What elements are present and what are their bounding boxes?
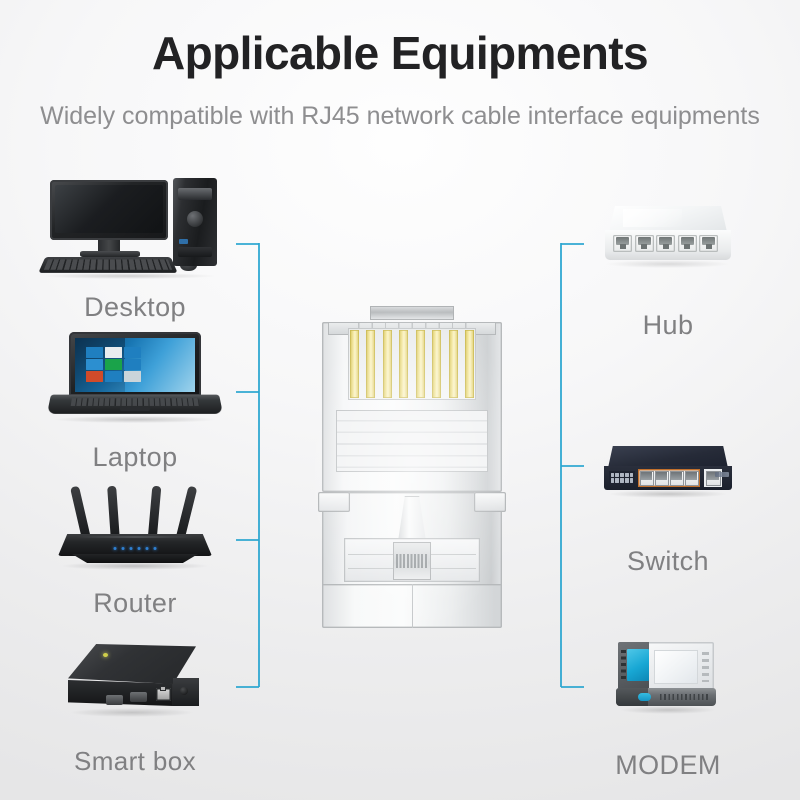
connector-gold-pins bbox=[350, 330, 474, 398]
connector-cable-stub bbox=[370, 306, 454, 320]
equipment-label-switch: Switch bbox=[553, 546, 783, 577]
equipment-item-modem[interactable]: MODEM bbox=[553, 636, 783, 781]
network-hub-icon bbox=[553, 196, 783, 306]
equipment-label-laptop: Laptop bbox=[20, 442, 250, 473]
connector-wing-right bbox=[474, 492, 506, 512]
equipment-item-laptop[interactable]: Laptop bbox=[20, 328, 250, 473]
infographic-canvas: Applicable Equipments Widely compatible … bbox=[0, 0, 800, 800]
equipment-label-hub: Hub bbox=[553, 310, 783, 341]
equipment-item-hub[interactable]: Hub bbox=[553, 196, 783, 341]
connector-wing-left bbox=[318, 492, 350, 512]
set-top-box-icon bbox=[20, 632, 250, 742]
page-title: Applicable Equipments bbox=[0, 26, 800, 80]
network-switch-icon bbox=[553, 432, 783, 542]
wifi-router-icon bbox=[20, 474, 250, 584]
connector-foot bbox=[322, 584, 502, 628]
equipment-label-modem: MODEM bbox=[553, 750, 783, 781]
page-subtitle: Widely compatible with RJ45 network cabl… bbox=[0, 98, 800, 134]
connector-crimp-window bbox=[393, 542, 431, 580]
equipment-label-desktop: Desktop bbox=[20, 292, 250, 323]
laptop-icon bbox=[20, 328, 250, 438]
desktop-computer-icon bbox=[20, 178, 250, 288]
connector-body-ridges bbox=[336, 410, 488, 472]
modem-icon bbox=[553, 636, 783, 746]
equipment-label-smart-box: Smart box bbox=[20, 746, 250, 777]
rj45-connector-product-image bbox=[322, 306, 502, 628]
equipment-item-smart-box[interactable]: Smart box bbox=[20, 632, 250, 777]
equipment-item-switch[interactable]: Switch bbox=[553, 432, 783, 577]
equipment-label-router: Router bbox=[20, 588, 250, 619]
equipment-item-desktop[interactable]: Desktop bbox=[20, 178, 250, 323]
equipment-item-router[interactable]: Router bbox=[20, 474, 250, 619]
